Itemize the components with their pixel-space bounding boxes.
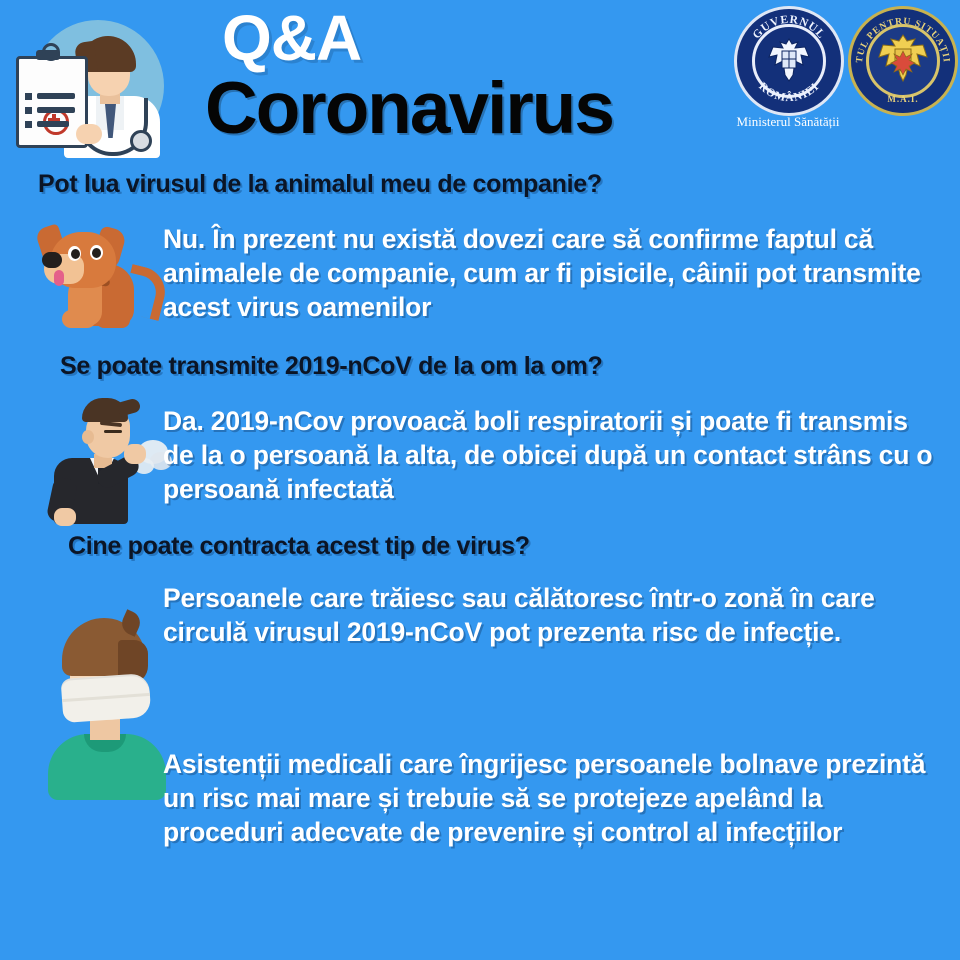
checklist-bullet xyxy=(25,107,32,114)
dog-eye-left xyxy=(68,246,81,261)
man-eye xyxy=(104,430,122,433)
question-1: Pot lua virusul de la animalul meu de co… xyxy=(38,170,602,199)
question-2: Se poate transmite 2019-nCoV de la om la… xyxy=(60,352,603,381)
question-3: Cine poate contracta acest tip de virus? xyxy=(68,532,530,561)
man-ear xyxy=(82,430,94,444)
answer-3-part-2: Asistenții medicali care îngrijesc perso… xyxy=(163,748,938,850)
dog-front-leg xyxy=(62,310,96,328)
infographic-page: Q&A Coronavirus GUVERNUL ROMÂNIEI xyxy=(0,0,960,960)
answer-3: Persoanele care trăiesc sau călătoresc î… xyxy=(163,582,938,650)
coughing-man-icon xyxy=(38,396,168,526)
eagle-emblem-icon xyxy=(875,31,931,87)
checklist-line xyxy=(37,93,75,99)
stethoscope-bell-icon xyxy=(130,130,152,152)
answer-1: Nu. În prezent nu există dovezi care să … xyxy=(163,223,953,325)
doctor-with-clipboard-icon xyxy=(10,12,170,164)
dog-nose xyxy=(42,252,62,268)
page-title-coronavirus: Coronavirus xyxy=(205,72,613,145)
checklist-bullet xyxy=(25,93,32,100)
page-title-qa: Q&A xyxy=(222,6,361,70)
clipboard-ring xyxy=(42,43,60,61)
checklist-line xyxy=(37,121,69,127)
answer-2: Da. 2019-nCov provoacă boli respiratorii… xyxy=(163,405,938,507)
dog-icon xyxy=(28,218,158,334)
eagle-emblem-icon xyxy=(765,35,813,87)
doctor-hand xyxy=(76,124,102,144)
man-hand-mouth xyxy=(124,444,146,464)
dog-eye-right xyxy=(90,245,103,260)
header: Q&A Coronavirus GUVERNUL ROMÂNIEI xyxy=(0,0,960,168)
checklist-bullet xyxy=(25,121,32,128)
dog-tongue xyxy=(54,270,64,286)
seal-text-mai: M.A.I. xyxy=(851,94,955,104)
seal-government-caption: Ministerul Sănătății xyxy=(714,114,862,130)
checklist-line xyxy=(37,107,75,113)
man-hair-tuft xyxy=(116,397,141,417)
seal-emergency-department: DEPARTAMENTUL PENTRU SITUAȚII DE URGENȚĂ… xyxy=(848,6,958,116)
man-hand-hip xyxy=(54,508,76,526)
seal-government-romania: GUVERNUL ROMÂNIEI xyxy=(734,6,844,116)
